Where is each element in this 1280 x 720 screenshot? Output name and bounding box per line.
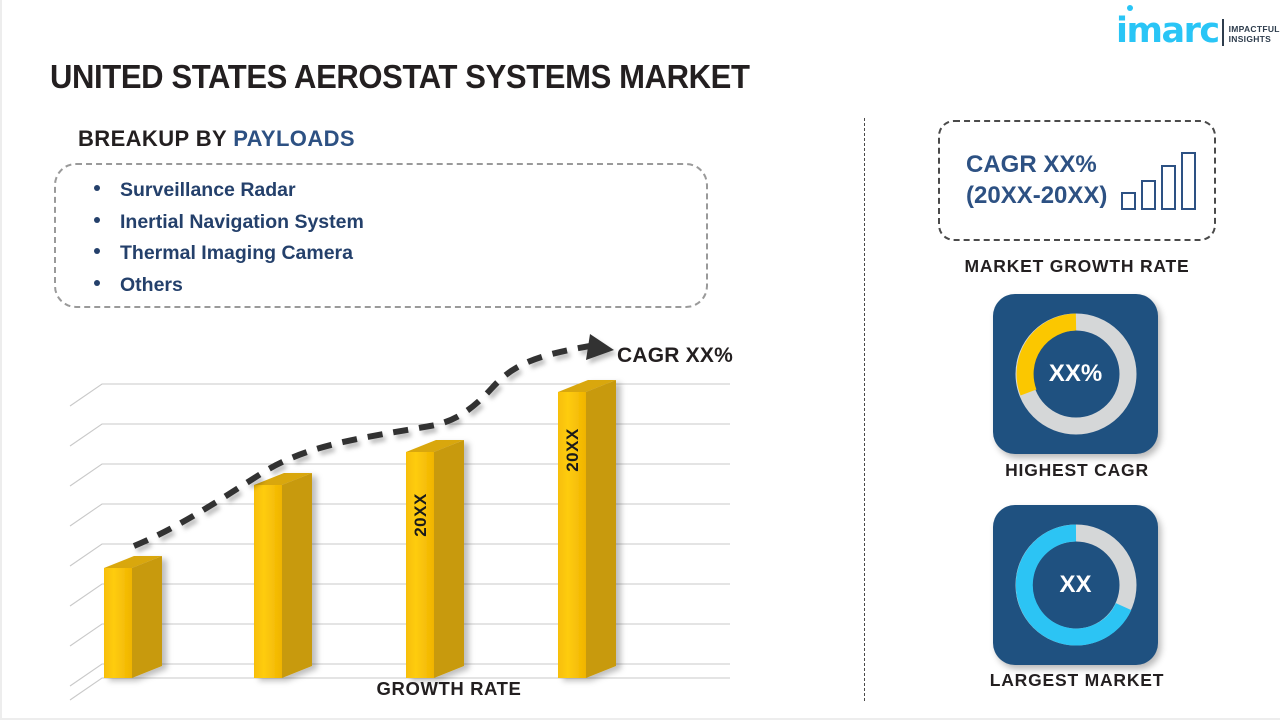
bullet-icon (94, 280, 100, 286)
logo-tagline: IMPACTFUL INSIGHTS (1229, 24, 1280, 45)
logo-wordmark: imarc (1116, 14, 1219, 49)
chart-trend-line (134, 334, 614, 546)
market-growth-rate-caption: MARKET GROWTH RATE (877, 256, 1277, 277)
bar-value-label: 20XX (411, 480, 431, 550)
logo-tagline-line1: IMPACTFUL (1229, 24, 1280, 35)
payloads-list-box: Surveillance Radar Inertial Navigation S… (54, 163, 708, 308)
largest-market-card: XX (993, 505, 1158, 665)
breakup-heading-highlight: PAYLOADS (233, 126, 355, 151)
highest-cagr-card: XX% (993, 294, 1158, 454)
largest-market-value: XX (993, 571, 1158, 599)
page-title: UNITED STATES AEROSTAT SYSTEMS MARKET (50, 58, 750, 96)
highest-cagr-value: XX% (993, 360, 1158, 388)
list-item: Thermal Imaging Camera (94, 242, 706, 265)
list-item-label: Thermal Imaging Camera (120, 242, 353, 265)
list-item: Inertial Navigation System (94, 211, 706, 234)
largest-market-caption: LARGEST MARKET (877, 670, 1277, 691)
market-growth-rate-box: CAGR XX% (20XX-20XX) (938, 120, 1216, 241)
breakup-heading-prefix: BREAKUP BY (78, 126, 233, 151)
chart-bar (406, 440, 464, 678)
list-item: Others (94, 274, 706, 297)
bar-value-label: 20XX (563, 415, 583, 485)
highest-cagr-caption: HIGHEST CAGR (877, 460, 1277, 481)
bullet-icon (94, 185, 100, 191)
chart-bar (104, 556, 162, 678)
breakup-heading: BREAKUP BY PAYLOADS (78, 126, 355, 152)
cagr-line-1: CAGR XX% (966, 150, 1107, 181)
logo-word-text: imarc (1116, 11, 1219, 51)
cagr-line-2: (20XX-20XX) (966, 181, 1107, 212)
growth-rate-bar-chart: 20XX 20XX CAGR XX% GROWTH RATE (62, 330, 762, 710)
logo-divider (1222, 19, 1224, 46)
chart-bar (254, 473, 312, 678)
infographic-page: imarc IMPACTFUL INSIGHTS UNITED STATES A… (0, 0, 1280, 720)
bullet-icon (94, 248, 100, 254)
bullet-icon (94, 217, 100, 223)
logo-tagline-line2: INSIGHTS (1229, 34, 1280, 45)
vertical-divider (864, 118, 865, 701)
list-item-label: Surveillance Radar (120, 179, 296, 202)
list-item: Surveillance Radar (94, 179, 706, 202)
list-item-label: Others (120, 274, 183, 297)
bar-chart-icon (1121, 152, 1196, 210)
list-item-label: Inertial Navigation System (120, 211, 364, 234)
imarc-logo: imarc IMPACTFUL INSIGHTS (1116, 14, 1280, 49)
chart-cagr-annotation: CAGR XX% (617, 344, 733, 368)
chart-x-axis-label: GROWTH RATE (349, 678, 549, 700)
logo-dot (1127, 5, 1133, 11)
cagr-text: CAGR XX% (20XX-20XX) (966, 150, 1107, 211)
